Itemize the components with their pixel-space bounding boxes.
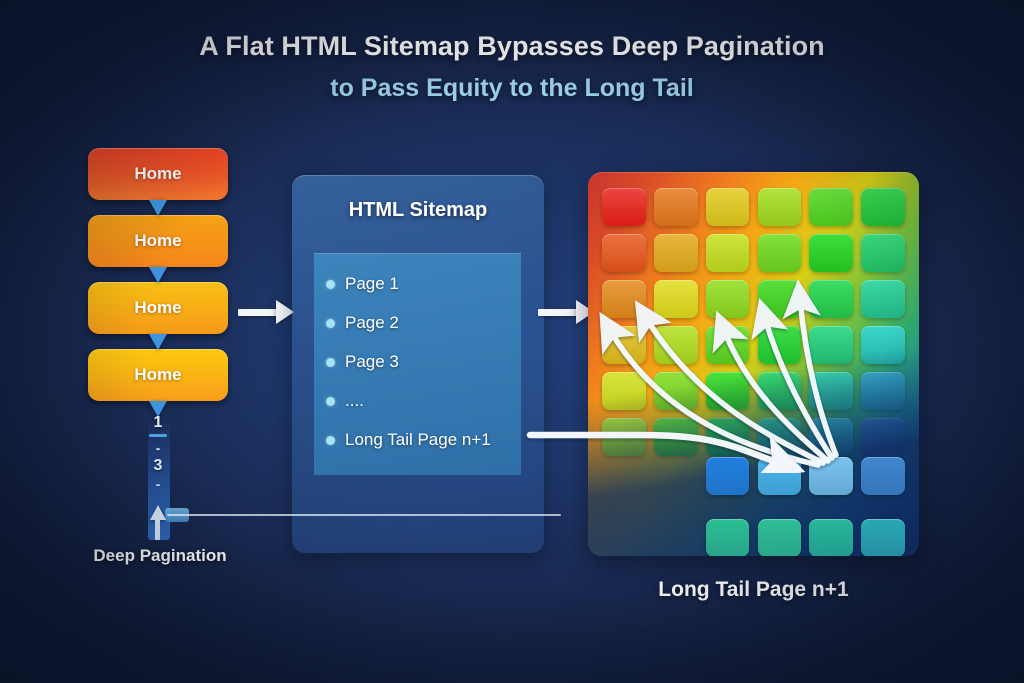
- home-node-4[interactable]: Home: [88, 349, 228, 401]
- grid-tile[interactable]: [706, 372, 750, 410]
- grid-panel-caption: Long Tail Page n+1: [588, 578, 919, 602]
- list-item[interactable]: Page 1: [314, 269, 521, 299]
- list-item-label: Page 1: [345, 274, 399, 294]
- home-node-label: Home: [134, 164, 181, 184]
- grid-tile[interactable]: [758, 372, 802, 410]
- grid-tile[interactable]: [706, 188, 750, 226]
- grid-tile-long-tail[interactable]: [758, 519, 802, 556]
- grid-tile-long-tail[interactable]: [809, 457, 853, 495]
- pagination-underline: [149, 434, 167, 437]
- grid-tile[interactable]: [654, 280, 698, 318]
- grid-tile-long-tail[interactable]: [758, 457, 802, 495]
- list-item-label: Page 2: [345, 313, 399, 333]
- list-item[interactable]: Page 3: [314, 347, 521, 377]
- grid-tile[interactable]: [602, 188, 646, 226]
- down-triangle-icon: [149, 334, 167, 350]
- grid-tile[interactable]: [602, 234, 646, 272]
- grid-tile[interactable]: [654, 418, 698, 456]
- arrow-home-to-sitemap: [238, 300, 296, 324]
- grid-tile[interactable]: [602, 280, 646, 318]
- deep-pagination-chain: Home Home Home Home: [88, 148, 228, 416]
- grid-tile[interactable]: [861, 372, 905, 410]
- pagination-item-1[interactable]: 1: [88, 415, 228, 431]
- list-item-label: Page 3: [345, 352, 399, 372]
- grid-tile[interactable]: [809, 326, 853, 364]
- list-item[interactable]: ....: [314, 386, 521, 416]
- list-item-long-tail[interactable]: Long Tail Page n+1: [314, 425, 521, 455]
- grid-tile[interactable]: [809, 188, 853, 226]
- grid-tile-long-tail[interactable]: [861, 457, 905, 495]
- sitemap-list: Page 1 Page 2 Page 3 .... Long Tail Page…: [314, 253, 521, 475]
- down-triangle-icon: [149, 267, 167, 283]
- home-node-label: Home: [134, 231, 181, 251]
- pagination-item-4: -: [88, 477, 228, 491]
- pagination-item-3[interactable]: 3: [88, 458, 228, 474]
- grid-tile[interactable]: [654, 234, 698, 272]
- grid-tile-long-tail[interactable]: [706, 457, 750, 495]
- deep-pagination-caption: Deep Pagination: [20, 546, 300, 566]
- grid-tile[interactable]: [654, 326, 698, 364]
- grid-tile[interactable]: [809, 372, 853, 410]
- grid-tile[interactable]: [706, 234, 750, 272]
- home-node-label: Home: [134, 298, 181, 318]
- grid-tile[interactable]: [706, 280, 750, 318]
- grid-tile[interactable]: [758, 418, 802, 456]
- pagination-chip: [165, 508, 189, 522]
- home-node-2[interactable]: Home: [88, 215, 228, 267]
- grid-tile[interactable]: [861, 326, 905, 364]
- grid-tile[interactable]: [602, 418, 646, 456]
- grid-tile-long-tail[interactable]: [706, 519, 750, 556]
- grid-tile-long-tail[interactable]: [809, 519, 853, 556]
- bullet-icon: [326, 397, 335, 406]
- grid-tile[interactable]: [758, 280, 802, 318]
- grid-tile[interactable]: [809, 234, 853, 272]
- sitemap-title: HTML Sitemap: [292, 199, 544, 222]
- list-item-label: ....: [345, 391, 364, 411]
- down-triangle-icon: [149, 200, 167, 216]
- infographic-canvas: A Flat HTML Sitemap Bypasses Deep Pagina…: [0, 0, 1024, 683]
- home-node-3[interactable]: Home: [88, 282, 228, 334]
- bullet-icon: [326, 358, 335, 367]
- grid-tile[interactable]: [809, 280, 853, 318]
- title-line-2: to Pass Equity to the Long Tail: [0, 73, 1024, 104]
- html-sitemap-panel: HTML Sitemap Page 1 Page 2 Page 3 .... L…: [292, 175, 544, 553]
- long-tail-grid-panel: [588, 172, 919, 556]
- grid-tile[interactable]: [758, 188, 802, 226]
- bullet-icon: [326, 436, 335, 445]
- grid-tile-long-tail[interactable]: [861, 519, 905, 556]
- list-item[interactable]: Page 2: [314, 308, 521, 338]
- grid-tile[interactable]: [861, 280, 905, 318]
- grid-tile[interactable]: [602, 372, 646, 410]
- bullet-icon: [326, 280, 335, 289]
- home-node-1[interactable]: Home: [88, 148, 228, 200]
- grid-tile[interactable]: [706, 418, 750, 456]
- grid-tile[interactable]: [654, 372, 698, 410]
- grid-tile[interactable]: [809, 418, 853, 456]
- up-arrow-tail: [155, 518, 160, 540]
- home-node-label: Home: [134, 365, 181, 385]
- pagination-item-2: -: [88, 441, 228, 455]
- grid-tile[interactable]: [861, 234, 905, 272]
- title-line-1: A Flat HTML Sitemap Bypasses Deep Pagina…: [0, 30, 1024, 64]
- grid-tile[interactable]: [602, 326, 646, 364]
- list-item-label: Long Tail Page n+1: [345, 430, 491, 450]
- grid-tile[interactable]: [706, 326, 750, 364]
- grid-tile[interactable]: [758, 326, 802, 364]
- pagination-numbers: 1 - 3 -: [88, 415, 228, 494]
- bullet-icon: [326, 319, 335, 328]
- page-title: A Flat HTML Sitemap Bypasses Deep Pagina…: [0, 30, 1024, 104]
- grid-tile[interactable]: [861, 188, 905, 226]
- grid-tile[interactable]: [758, 234, 802, 272]
- grid-tile[interactable]: [861, 418, 905, 456]
- grid-tile[interactable]: [654, 188, 698, 226]
